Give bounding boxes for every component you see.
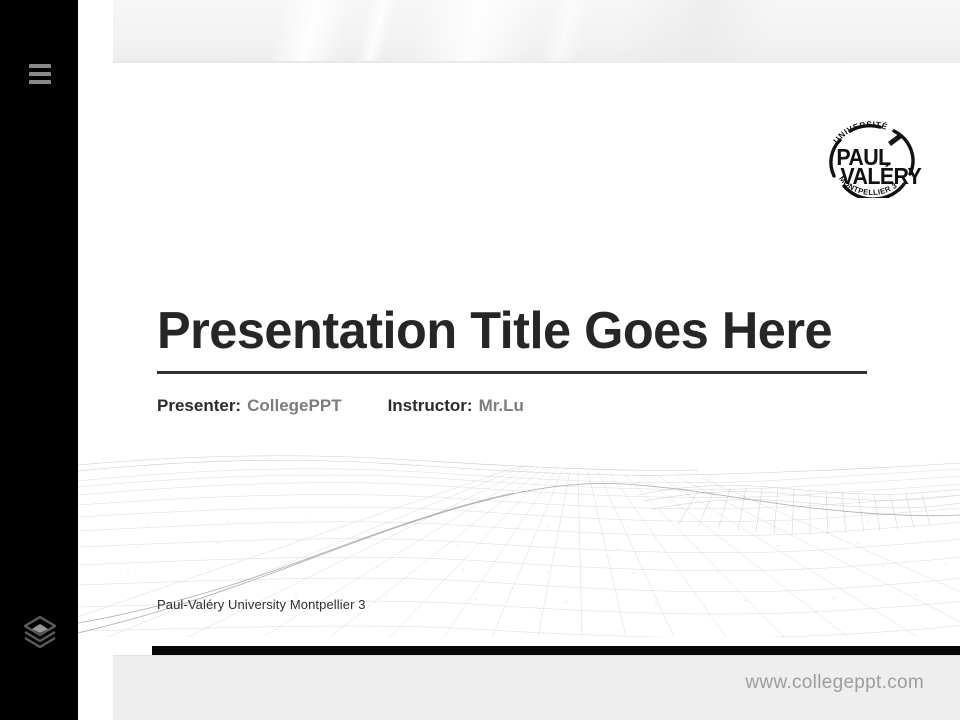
instructor-label: Instructor: <box>388 396 473 416</box>
slide-viewer: UNIVERSITÉ MONTPELLIER 3 PAUL VALÉRY Pre… <box>0 0 960 720</box>
title-underline <box>157 371 867 374</box>
ribbon-shape <box>253 0 363 63</box>
instructor-value: Mr.Lu <box>479 396 524 416</box>
hamburger-icon[interactable] <box>29 64 51 84</box>
top-decorative-strip <box>113 0 960 63</box>
svg-text:VALÉRY: VALÉRY <box>840 163 921 189</box>
ribbon-shape <box>341 0 407 63</box>
hamburger-bar <box>29 80 51 84</box>
presentation-slide[interactable]: UNIVERSITÉ MONTPELLIER 3 PAUL VALÉRY Pre… <box>78 63 960 655</box>
layers-icon[interactable] <box>14 605 66 657</box>
slide-footer-text: Paul-Valéry University Montpellier 3 <box>157 597 366 612</box>
ribbon-shape <box>393 0 553 63</box>
hamburger-bar <box>29 72 51 76</box>
title-block: Presentation Title Goes Here Presenter: … <box>157 303 869 416</box>
presenter-meta-row: Presenter: CollegePPT Instructor: Mr.Lu <box>157 396 869 416</box>
left-sidebar <box>0 0 78 720</box>
site-url: www.collegeppt.com <box>745 672 924 694</box>
presenter-label: Presenter: <box>157 396 241 416</box>
page-title: Presentation Title Goes Here <box>157 303 848 359</box>
ribbon-shape <box>598 0 788 63</box>
presenter-value: CollegePPT <box>247 396 341 416</box>
university-logo: UNIVERSITÉ MONTPELLIER 3 PAUL VALÉRY <box>818 118 924 198</box>
hamburger-bar <box>29 64 51 68</box>
slide-bottom-bar <box>152 646 960 655</box>
svg-text:UNIVERSITÉ: UNIVERSITÉ <box>832 120 889 145</box>
